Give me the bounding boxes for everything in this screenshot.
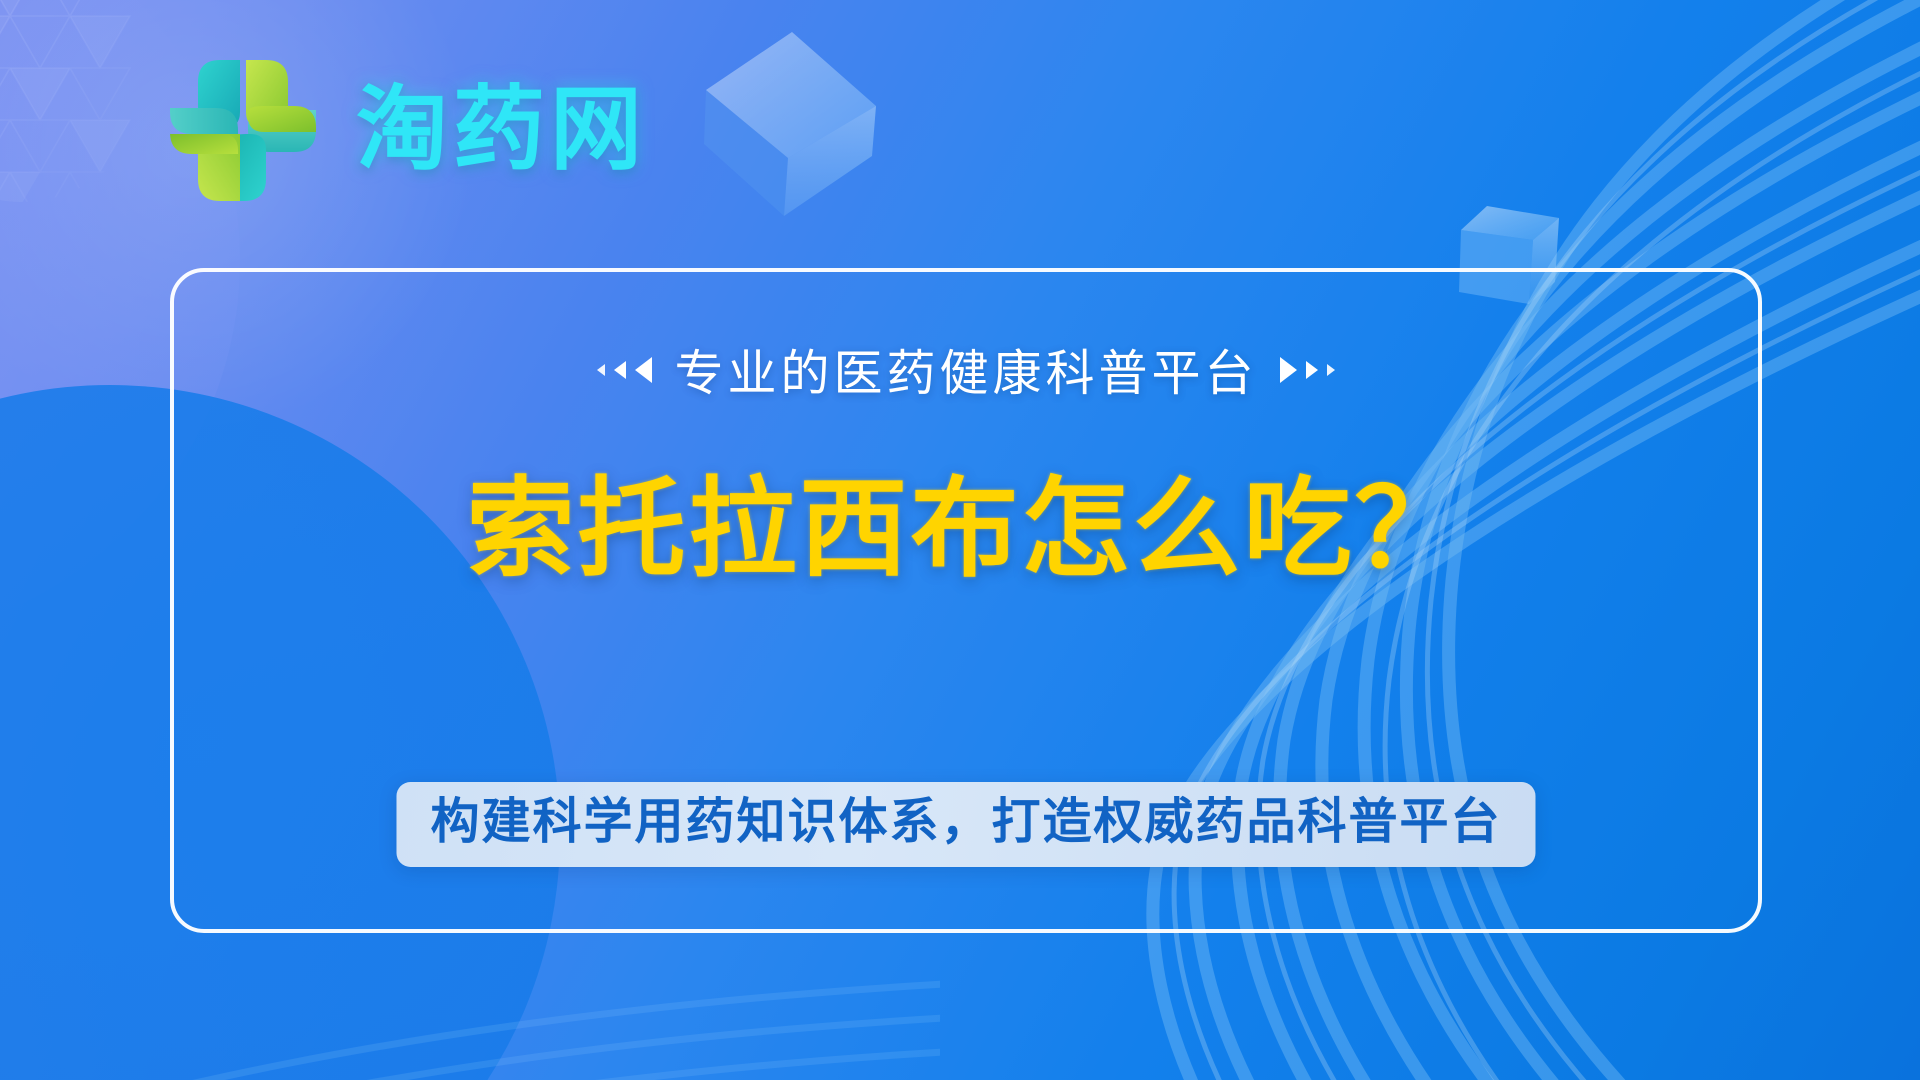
page-title: 索托拉西布怎么吃？ xyxy=(174,467,1758,591)
hero-card: 专业的医药健康科普平台 索托拉西布怎么吃？ 构建科学用药知识体系，打造权威药品科… xyxy=(170,268,1762,933)
triple-right-triangle-icon xyxy=(1280,357,1335,383)
translucent-cube-icon xyxy=(700,28,880,228)
promo-banner: 淘药网 专业的医药健康科普平台 索托拉西布怎么吃？ 构建科学用药知识体系，打造权… xyxy=(0,0,1920,1080)
pinwheel-cross-medical-icon xyxy=(168,58,318,203)
brand-name: 淘药网 xyxy=(356,84,647,176)
triple-left-triangle-icon xyxy=(597,357,652,383)
brand-logo[interactable]: 淘药网 xyxy=(168,60,647,200)
slogan-pill: 构建科学用药知识体系，打造权威药品科普平台 xyxy=(396,782,1535,867)
tagline-row: 专业的医药健康科普平台 xyxy=(174,334,1758,405)
tagline-text: 专业的医药健康科普平台 xyxy=(674,334,1257,405)
slogan-text: 构建科学用药知识体系，打造权威药品科普平台 xyxy=(430,798,1501,847)
